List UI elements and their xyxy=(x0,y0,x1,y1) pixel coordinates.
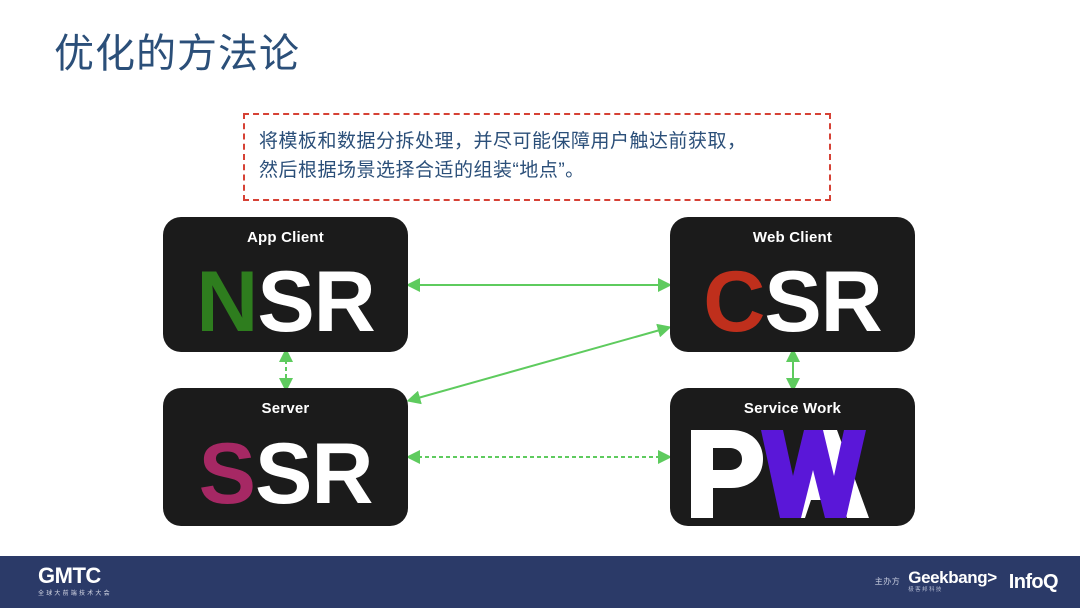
gmtc-subtitle: 全球大前端技术大会 xyxy=(38,589,112,599)
node-nsr[interactable]: App Client NSR xyxy=(163,217,408,352)
node-csr-label: Web Client xyxy=(670,229,915,246)
node-pwa[interactable]: Service Work xyxy=(670,388,915,526)
node-nsr-acronym: NSR xyxy=(163,251,408,352)
gmtc-logo: GMTC 全球大前端技术大会 xyxy=(38,565,112,599)
node-nsr-label: App Client xyxy=(163,229,408,246)
diagram-connectors xyxy=(0,0,1080,608)
callout-line-2: 然后根据场景选择合适的组装“地点”。 xyxy=(259,156,815,185)
slide-canvas: 优化的方法论 将模板和数据分拆处理，并尽可能保障用户触达前获取， 然后根据场景选… xyxy=(0,0,1080,608)
infoq-wordmark: InfoQ xyxy=(1009,572,1058,592)
node-csr-acronym: CSR xyxy=(670,251,915,352)
node-nsr-accent-letter: N xyxy=(196,259,257,345)
node-ssr[interactable]: Server SSR xyxy=(163,388,408,526)
node-csr-rest-letters: SR xyxy=(764,259,881,345)
page-title: 优化的方法论 xyxy=(54,30,300,78)
geekbang-subtitle: 极客邦科技 xyxy=(908,586,943,594)
node-csr-accent-letter: C xyxy=(703,259,764,345)
node-ssr-label: Server xyxy=(163,400,408,417)
sponsor-geekbang: Geekbang> 极客邦科技 xyxy=(908,569,997,594)
callout-line-1: 将模板和数据分拆处理，并尽可能保障用户触达前获取， xyxy=(259,127,815,156)
geekbang-wordmark: Geekbang> xyxy=(908,569,997,586)
gmtc-wordmark: GMTC xyxy=(38,565,112,587)
node-pwa-label: Service Work xyxy=(670,400,915,417)
connector-ssr-csr xyxy=(418,330,660,398)
node-ssr-accent-letter: S xyxy=(199,431,255,517)
sponsor-prefix-label: 主办方 xyxy=(875,576,901,587)
node-csr[interactable]: Web Client CSR xyxy=(670,217,915,352)
node-pwa-acronym xyxy=(670,422,915,526)
pwa-logo-icon xyxy=(687,428,899,520)
node-ssr-rest-letters: SR xyxy=(255,431,372,517)
node-ssr-acronym: SSR xyxy=(163,422,408,526)
node-nsr-rest-letters: SR xyxy=(257,259,374,345)
callout-box: 将模板和数据分拆处理，并尽可能保障用户触达前获取， 然后根据场景选择合适的组装“… xyxy=(243,113,831,201)
sponsor-group: 主办方 Geekbang> 极客邦科技 InfoQ xyxy=(875,569,1058,594)
footer-bar: GMTC 全球大前端技术大会 主办方 Geekbang> 极客邦科技 InfoQ xyxy=(0,556,1080,608)
